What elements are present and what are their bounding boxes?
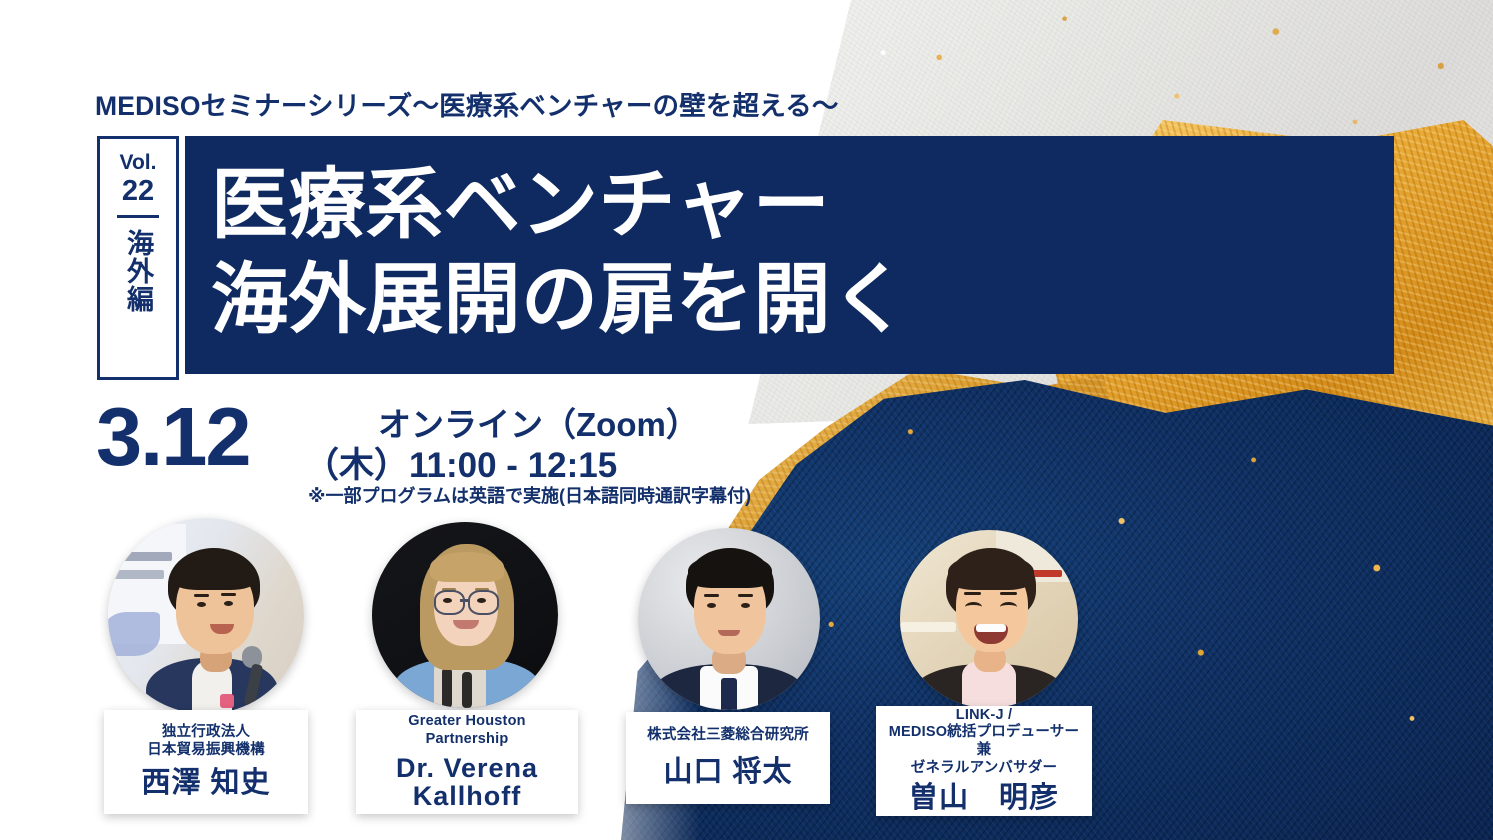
speaker-nameplate-1: 独立行政法人 日本貿易振興機構 西澤 知史 bbox=[104, 710, 308, 814]
speaker-org-1-line1: 独立行政法人 bbox=[104, 724, 308, 742]
speaker-name-2-line2: Kallhoff bbox=[356, 782, 578, 811]
speaker-org-4-line3: ゼネラルアンバサダー bbox=[876, 760, 1092, 778]
speaker-nameplate-2: Greater Houston Partnership Dr. Verena K… bbox=[356, 710, 578, 814]
speaker-org-2-line2: Partnership bbox=[356, 731, 578, 749]
speaker-org-4-line1: LINK-J / bbox=[876, 707, 1092, 725]
speaker-name-1: 西澤 知史 bbox=[104, 768, 308, 800]
speaker-org-1-line2: 日本貿易振興機構 bbox=[104, 742, 308, 760]
speaker-org-3: 株式会社三菱総合研究所 bbox=[626, 727, 830, 745]
speaker-name-3: 山口 将太 bbox=[626, 757, 830, 789]
series-title: MEDISOセミナーシリーズ～医療系ベンチャーの壁を超える～ bbox=[95, 84, 839, 123]
volume-badge: Vol. 22 海外編 bbox=[97, 136, 179, 380]
speaker-nameplate-4: LINK-J / MEDISO統括プロデューサー兼 ゼネラルアンバサダー 曽山 … bbox=[876, 706, 1092, 816]
speaker-org-2-line1: Greater Houston bbox=[356, 713, 578, 731]
speaker-portrait-1 bbox=[108, 518, 304, 714]
volume-number: 22 bbox=[122, 177, 154, 206]
main-title-line-1: 医療系ベンチャー bbox=[211, 167, 830, 244]
speaker-portrait-3 bbox=[638, 528, 820, 710]
event-date: 3.12 bbox=[96, 395, 250, 478]
speaker-org-4-line2: MEDISO統括プロデューサー兼 bbox=[876, 724, 1092, 759]
event-time: （木）11:00 - 12:15 bbox=[304, 448, 617, 483]
main-title-line-2: 海外展開の扉を開く bbox=[211, 262, 909, 339]
event-note: ※一部プログラムは英語で実施(日本語同時通訳字幕付) bbox=[308, 487, 751, 505]
speaker-name-2-line1: Dr. Verena bbox=[356, 754, 578, 783]
volume-divider bbox=[117, 215, 159, 218]
volume-label: Vol. bbox=[120, 152, 157, 173]
seminar-poster: MEDISOセミナーシリーズ～医療系ベンチャーの壁を超える～ Vol. 22 海… bbox=[0, 0, 1493, 840]
speaker-name-4: 曽山 明彦 bbox=[876, 783, 1092, 815]
speaker-portrait-2 bbox=[372, 522, 558, 708]
volume-edition: 海外編 bbox=[124, 229, 152, 313]
event-venue: オンライン（Zoom） bbox=[378, 408, 699, 441]
speaker-nameplate-3: 株式会社三菱総合研究所 山口 将太 bbox=[626, 712, 830, 804]
title-band: 医療系ベンチャー 海外展開の扉を開く bbox=[185, 136, 1394, 374]
speaker-portrait-4 bbox=[900, 530, 1078, 708]
